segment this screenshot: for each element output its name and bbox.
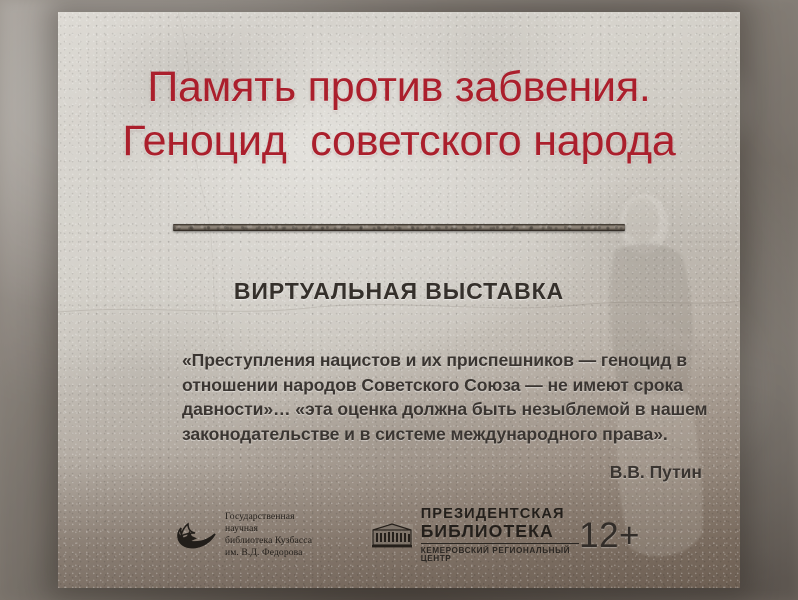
logo-presidential-library: ПРЕЗИДЕНТСКАЯ БИБЛИОТЕКА КЕМЕРОВСКИЙ РЕГ… xyxy=(370,507,579,563)
logo-state-library: Государственная научная библиотека Кузба… xyxy=(172,511,314,560)
divider-bar xyxy=(173,224,625,231)
age-rating-badge: 12+ xyxy=(579,518,640,553)
quote-author: В.В. Путин xyxy=(182,462,702,483)
poster-panel: Память против забвения. Геноцид советско… xyxy=(58,12,740,588)
poster-title: Память против забвения. Геноцид советско… xyxy=(58,60,740,168)
divider-container xyxy=(58,224,740,231)
state-library-name: Государственная научная библиотека Кузба… xyxy=(225,511,314,560)
pb-line-1: ПРЕЗИДЕНТСКАЯ xyxy=(421,507,579,522)
poster-root: Память против забвения. Геноцид советско… xyxy=(0,0,798,600)
classical-building-icon xyxy=(370,519,414,551)
poster-footer: Государственная научная библиотека Кузба… xyxy=(120,504,712,566)
pb-line-3: КЕМЕРОВСКИЙ РЕГИОНАЛЬНЫЙ ЦЕНТР xyxy=(421,547,579,563)
presidential-library-name: ПРЕЗИДЕНТСКАЯ БИБЛИОТЕКА КЕМЕРОВСКИЙ РЕГ… xyxy=(421,507,579,563)
poster-subtitle: ВИРТУАЛЬНАЯ ВЫСТАВКА xyxy=(58,278,740,305)
leaf-star-icon xyxy=(172,518,218,552)
title-line-2: Геноцид советского народа xyxy=(66,114,732,168)
pb-line-2: БИБЛИОТЕКА xyxy=(421,523,579,541)
pb-divider xyxy=(421,543,579,544)
title-line-1: Память против забвения. xyxy=(66,60,732,114)
quote-text: «Преступления нацистов и их приспешников… xyxy=(182,348,740,446)
quote-block: «Преступления нацистов и их приспешников… xyxy=(182,348,740,483)
